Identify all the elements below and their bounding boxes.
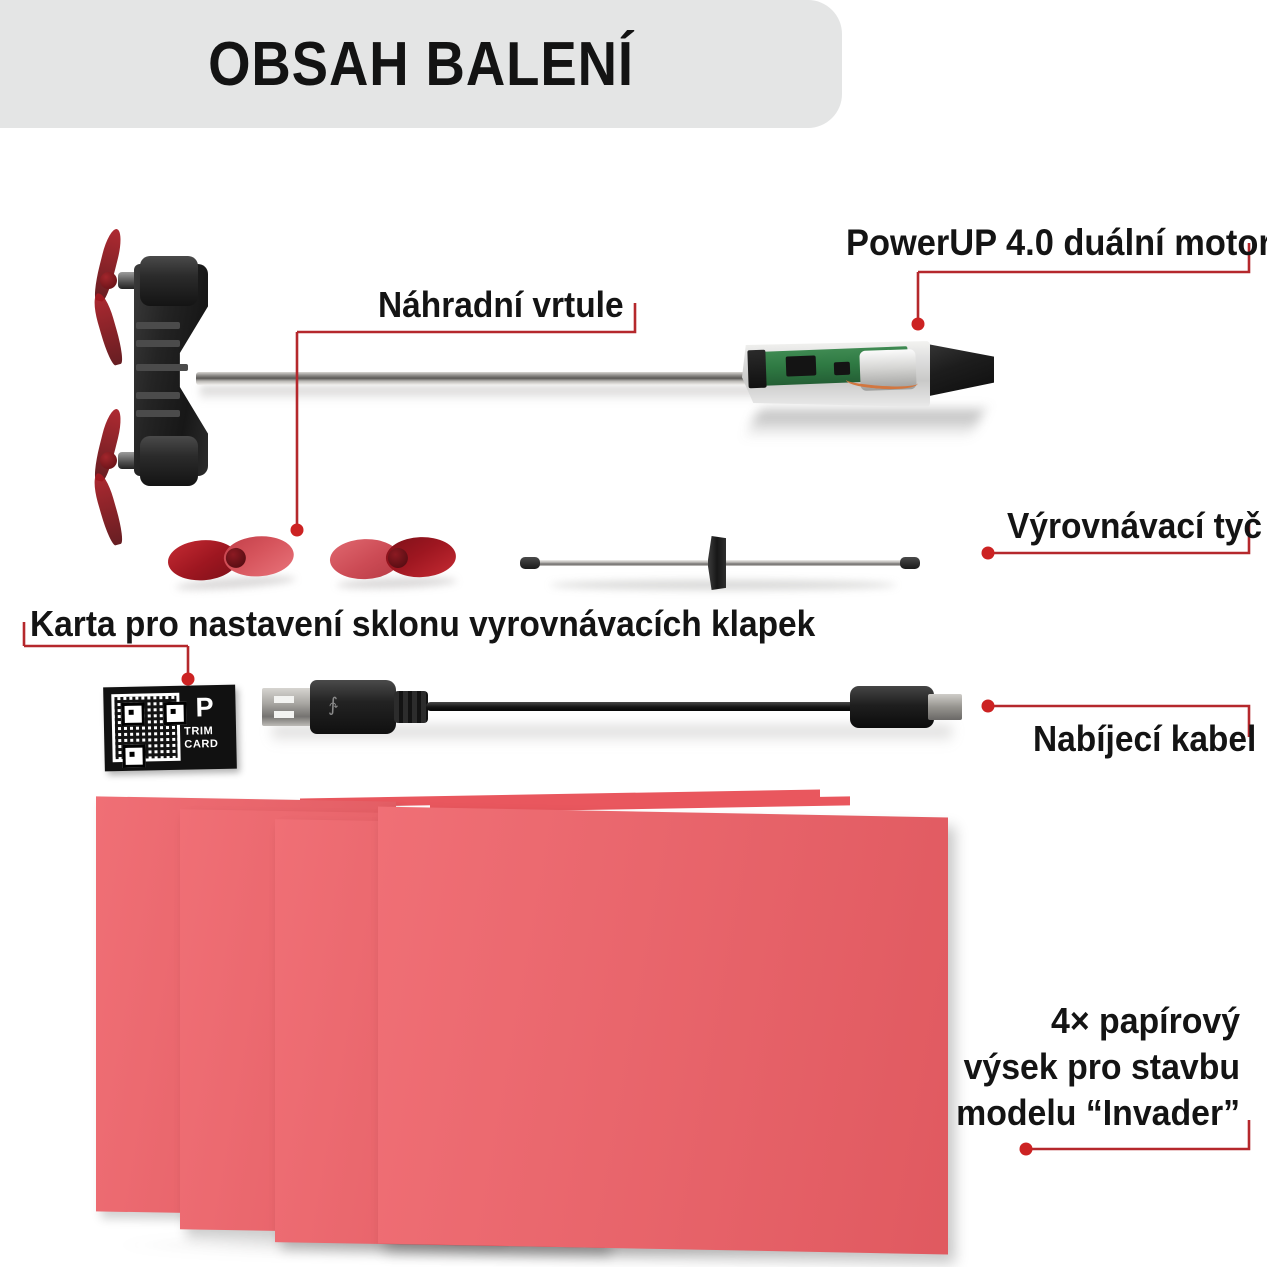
balance-rod-cap [520, 557, 540, 569]
callout-label-paper-sheets: 4× papírový výsek pro stavbu modelu “Inv… [956, 998, 1240, 1136]
electronics-module [742, 336, 990, 424]
propeller-blade-icon [90, 291, 126, 367]
leader-dot-cable [982, 700, 995, 713]
housing-fin [136, 340, 180, 347]
charging-cable: ∱ [262, 672, 952, 744]
usb-symbol-icon: ∱ [328, 696, 372, 716]
balance-rod-clip [708, 536, 726, 590]
propeller-blade-icon [91, 227, 124, 303]
strain-relief [394, 691, 428, 723]
balance-rod [520, 536, 920, 592]
motor-can [140, 256, 198, 306]
paper-sheet [378, 807, 948, 1255]
power-switch [747, 350, 766, 389]
callout-label-charging-cable: Nabíjecí kabel [1033, 718, 1256, 760]
fuselage-rod [196, 372, 772, 385]
trim-card-label-line2: CARD [184, 738, 234, 752]
propeller-blade-icon [90, 471, 126, 547]
callout-label-balance-rod: Výrovnávací tyč [1007, 505, 1262, 547]
motor-can [140, 436, 198, 486]
trim-card-label: TRIM CARD [184, 725, 235, 752]
propeller-blade-icon [91, 407, 124, 483]
callout-label-paper-line3: modelu “Invader” [956, 1090, 1240, 1136]
page-title: OBSAH BALENÍ [51, 0, 792, 128]
callout-label-trim-card: Karta pro nastavení sklonu vyrovnávacích… [30, 603, 815, 645]
balance-rod-cap [900, 557, 920, 569]
callout-label-motor: PowerUP 4.0 duální motor [846, 222, 1267, 264]
callout-label-paper-line2: výsek pro stavbu [956, 1044, 1240, 1090]
fuselage-shadow [200, 386, 760, 402]
micro-usb-connector [928, 694, 962, 720]
qr-eye [122, 745, 145, 768]
qr-code-icon [111, 693, 180, 762]
motor-assembly [78, 240, 318, 500]
spare-propeller [166, 529, 303, 590]
qr-eye [121, 703, 144, 726]
cable-wire [426, 702, 896, 711]
header-banner: OBSAH BALENÍ [0, 0, 842, 128]
usb-a-connector [262, 688, 316, 726]
leader-dot-paper [1020, 1143, 1033, 1156]
usb-pin [274, 711, 294, 718]
chip-icon [786, 355, 817, 376]
powerup-logo-icon: P [195, 694, 222, 721]
propeller-hub [100, 452, 117, 469]
housing-fin [136, 410, 180, 417]
nose-cone [922, 338, 994, 400]
qr-eye [163, 702, 186, 725]
trim-card: P TRIM CARD [103, 685, 237, 772]
spare-propeller [329, 532, 465, 589]
housing-fin [136, 364, 188, 371]
leader-dot-rod [982, 547, 995, 560]
leader-dot-motor [912, 318, 925, 331]
callout-label-paper-line1: 4× papírový [956, 998, 1240, 1044]
leader-dot-trimcard [182, 673, 195, 686]
callout-label-spare-propellers: Náhradní vrtule [378, 284, 624, 326]
micro-usb-housing [850, 686, 934, 728]
housing-fin [136, 392, 180, 399]
usb-pin [274, 696, 294, 703]
housing-fin [136, 322, 180, 329]
trim-card-label-line1: TRIM [184, 725, 234, 739]
infographic-stage: OBSAH BALENÍ [0, 0, 1267, 1267]
propeller-hub [100, 272, 117, 289]
